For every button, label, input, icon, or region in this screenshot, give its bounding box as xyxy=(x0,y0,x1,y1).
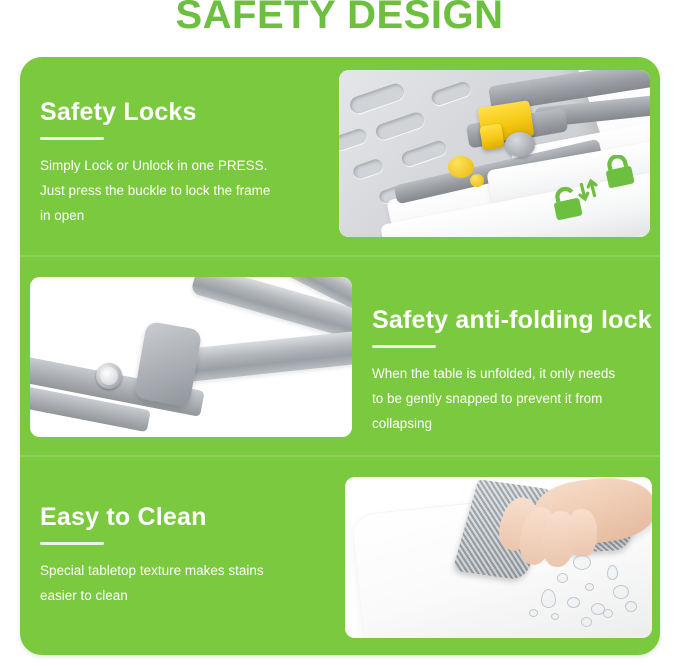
yellow-button xyxy=(448,156,474,178)
page-title: SAFETY DESIGN xyxy=(0,0,679,39)
section-heading: Easy to Clean xyxy=(40,502,264,532)
section-safety-locks-text: Safety Locks Simply Lock or Unlock in on… xyxy=(40,97,270,228)
pivot-pin xyxy=(505,132,535,157)
body-line: to be gently snapped to prevent it from xyxy=(372,386,644,411)
anti-folding-lock-photo xyxy=(30,277,352,437)
section-divider-2 xyxy=(20,455,660,457)
buckle-lock-illustration xyxy=(339,70,650,237)
section-heading: Safety Locks xyxy=(40,97,270,127)
section-body: When the table is unfolded, it only need… xyxy=(372,361,644,436)
features-card: Safety Locks Simply Lock or Unlock in on… xyxy=(20,57,660,655)
section-body: Simply Lock or Unlock in one PRESS. Just… xyxy=(40,153,270,228)
double-arrow-icon xyxy=(577,180,598,200)
section-heading: Safety anti-folding lock xyxy=(372,305,652,335)
body-line: in open xyxy=(40,203,270,228)
padlock-closed-icon xyxy=(603,155,635,189)
padlock-open-icon xyxy=(551,186,583,220)
section-anti-folding-text: Safety anti-folding lock When the table … xyxy=(372,305,652,436)
body-line: Just press the buckle to lock the frame xyxy=(40,178,270,203)
lock-state-icons xyxy=(546,155,642,227)
heading-underline xyxy=(40,137,104,140)
rivet xyxy=(96,363,122,389)
body-line: collapsing xyxy=(372,411,644,436)
water-droplet xyxy=(573,555,591,570)
heading-underline xyxy=(372,345,436,348)
section-divider-1 xyxy=(20,255,660,257)
body-line: Special tabletop texture makes stains xyxy=(40,558,264,583)
pivot-bracket-illustration xyxy=(30,277,352,437)
safety-design-infographic: SAFETY DESIGN Safety Locks Simply Lock o… xyxy=(0,0,679,666)
body-line: Simply Lock or Unlock in one PRESS. xyxy=(40,153,270,178)
section-easy-to-clean-text: Easy to Clean Special tabletop texture m… xyxy=(40,502,264,608)
safety-lock-photo xyxy=(339,70,650,237)
easy-to-clean-photo xyxy=(345,477,652,638)
wiping-tabletop-illustration xyxy=(345,477,652,638)
body-line: easier to clean xyxy=(40,583,264,608)
section-body: Special tabletop texture makes stains ea… xyxy=(40,558,264,608)
heading-underline xyxy=(40,542,104,545)
body-line: When the table is unfolded, it only need… xyxy=(372,361,644,386)
